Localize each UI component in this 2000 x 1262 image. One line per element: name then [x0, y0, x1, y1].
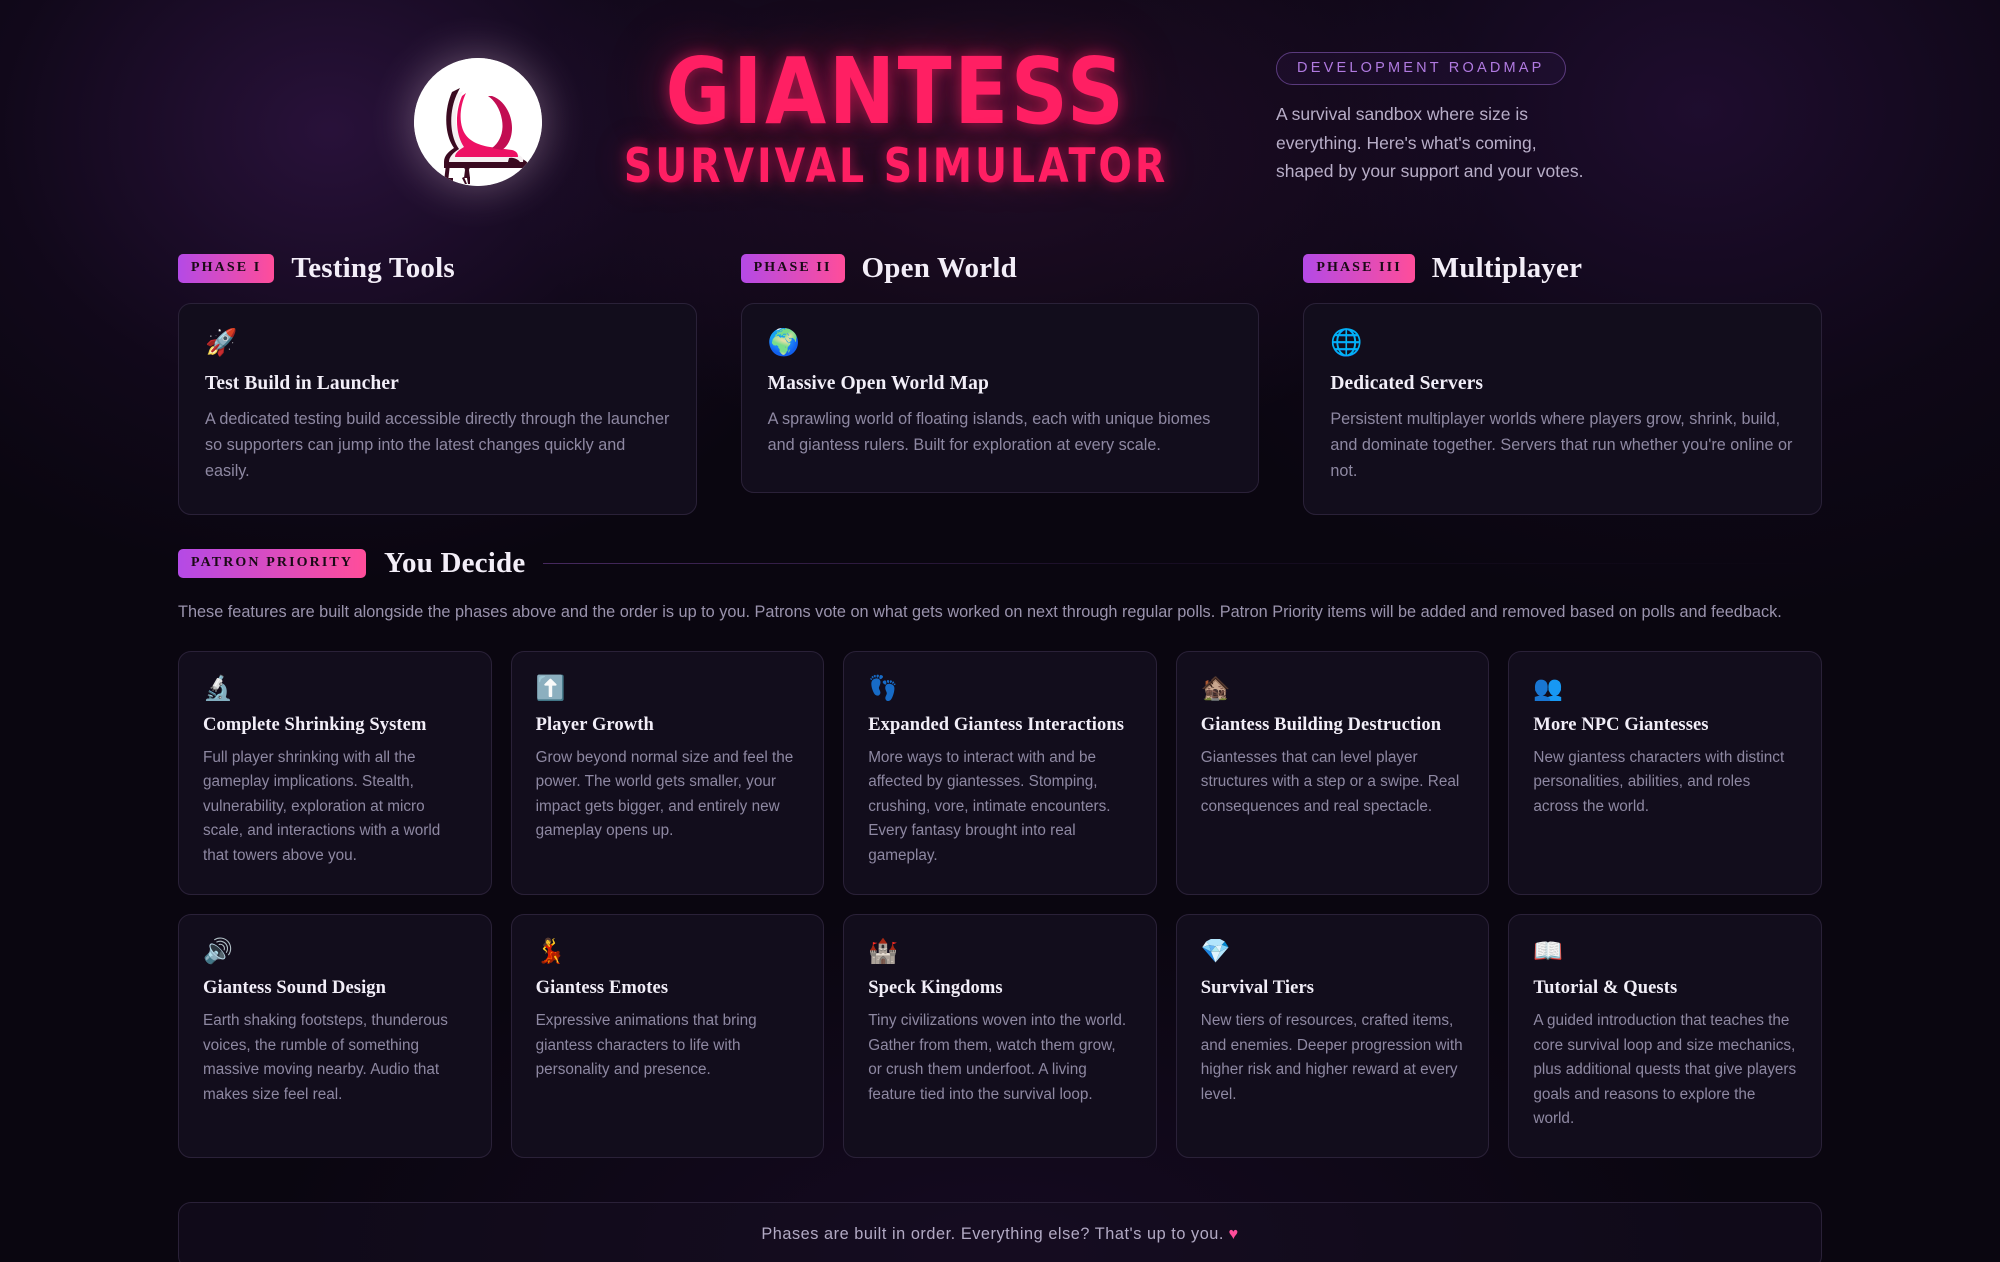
- patron-card-desc: Earth shaking footsteps, thunderous voic…: [203, 1009, 467, 1107]
- patron-card-title: Speck Kingdoms: [868, 978, 1132, 999]
- patron-card-player-growth[interactable]: ⬆️ Player Growth Grow beyond normal size…: [511, 651, 825, 895]
- patron-card-title: Survival Tiers: [1201, 978, 1465, 999]
- patron-card-speck-kingdoms[interactable]: 🏰 Speck Kingdoms Tiny civilizations wove…: [843, 914, 1157, 1158]
- dancer-icon: 💃: [536, 939, 800, 963]
- patron-card-title: Giantess Emotes: [536, 978, 800, 999]
- heart-icon: ♥: [1228, 1225, 1238, 1243]
- title-block: GIANTESS SURVIVAL SIMULATOR: [572, 48, 1220, 192]
- phase-title-3: Multiplayer: [1432, 252, 1582, 285]
- patron-card-building-destruction[interactable]: 🏚️ Giantess Building Destruction Giantes…: [1176, 651, 1490, 895]
- phase-title-1: Testing Tools: [291, 252, 455, 285]
- patron-card-title: Expanded Giantess Interactions: [868, 715, 1132, 736]
- patron-card-title: Complete Shrinking System: [203, 715, 467, 736]
- gem-icon: 💎: [1201, 939, 1465, 963]
- speaker-loud-icon: 🔊: [203, 939, 467, 963]
- busts-silhouette-icon: 👥: [1533, 676, 1797, 700]
- rocket-icon: 🚀: [205, 330, 670, 356]
- patron-divider: [543, 563, 1822, 564]
- patron-header: PATRON PRIORITY You Decide: [178, 547, 1822, 580]
- phase-header-1: PHASE I Testing Tools: [178, 252, 697, 285]
- phase-card-title-2: Massive Open World Map: [768, 373, 1233, 395]
- patron-card-desc: Tiny civilizations woven into the world.…: [868, 1009, 1132, 1107]
- header-meta: DEVELOPMENT ROADMAP A survival sandbox w…: [1276, 52, 1586, 185]
- phase-card-3[interactable]: 🌐 Dedicated Servers Persistent multiplay…: [1303, 303, 1822, 516]
- patron-card-title: Giantess Sound Design: [203, 978, 467, 999]
- patron-card-desc: Full player shrinking with all the gamep…: [203, 746, 467, 868]
- page-title: GIANTESS: [666, 48, 1127, 136]
- patron-title: You Decide: [384, 547, 525, 580]
- logo: [414, 58, 542, 186]
- phase-badge-3: PHASE III: [1303, 254, 1414, 283]
- patron-card-desc: New giantess characters with distinct pe…: [1533, 746, 1797, 819]
- phase-card-desc-3: Persistent multiplayer worlds where play…: [1330, 406, 1795, 485]
- up-arrow-icon: ⬆️: [536, 676, 800, 700]
- patron-priority-section: PATRON PRIORITY You Decide These feature…: [0, 547, 2000, 1158]
- phase-column-1: PHASE I Testing Tools 🚀 Test Build in La…: [178, 252, 697, 516]
- globe-earth-icon: 🌍: [768, 330, 1233, 356]
- derelict-house-icon: 🏚️: [1201, 676, 1465, 700]
- phase-column-3: PHASE III Multiplayer 🌐 Dedicated Server…: [1303, 252, 1822, 516]
- patron-card-title: More NPC Giantesses: [1533, 715, 1797, 736]
- high-heel-logo-icon: [414, 58, 542, 186]
- page-subtitle: SURVIVAL SIMULATOR: [624, 142, 1168, 191]
- patron-card-desc: More ways to interact with and be affect…: [868, 746, 1132, 868]
- patron-card-desc: Grow beyond normal size and feel the pow…: [536, 746, 800, 844]
- phase-column-2: PHASE II Open World 🌍 Massive Open World…: [741, 252, 1260, 516]
- phase-card-1[interactable]: 🚀 Test Build in Launcher A dedicated tes…: [178, 303, 697, 516]
- patron-card-shrinking[interactable]: 🔬 Complete Shrinking System Full player …: [178, 651, 492, 895]
- phase-card-2[interactable]: 🌍 Massive Open World Map A sprawling wor…: [741, 303, 1260, 493]
- open-book-icon: 📖: [1533, 939, 1797, 963]
- patron-card-desc: Giantesses that can level player structu…: [1201, 746, 1465, 819]
- patron-card-title: Tutorial & Quests: [1533, 978, 1797, 999]
- phase-header-2: PHASE II Open World: [741, 252, 1260, 285]
- patron-card-npc-giantesses[interactable]: 👥 More NPC Giantesses New giantess chara…: [1508, 651, 1822, 895]
- phase-title-2: Open World: [862, 252, 1017, 285]
- phase-badge-1: PHASE I: [178, 254, 274, 283]
- phase-header-3: PHASE III Multiplayer: [1303, 252, 1822, 285]
- footprints-icon: 👣: [868, 676, 1132, 700]
- phase-badge-2: PHASE II: [741, 254, 845, 283]
- phase-card-desc-1: A dedicated testing build accessible dir…: [205, 406, 670, 485]
- globe-meridians-icon: 🌐: [1330, 330, 1795, 356]
- patron-card-desc: A guided introduction that teaches the c…: [1533, 1009, 1797, 1131]
- castle-icon: 🏰: [868, 939, 1132, 963]
- roadmap-badge: DEVELOPMENT ROADMAP: [1276, 52, 1565, 85]
- patron-card-interactions[interactable]: 👣 Expanded Giantess Interactions More wa…: [843, 651, 1157, 895]
- phase-card-title-3: Dedicated Servers: [1330, 373, 1795, 395]
- footer-text: Phases are built in order. Everything el…: [761, 1225, 1224, 1243]
- phases-grid: PHASE I Testing Tools 🚀 Test Build in La…: [0, 252, 2000, 516]
- page-footer: Phases are built in order. Everything el…: [178, 1202, 1822, 1262]
- patron-grid-row-1: 🔬 Complete Shrinking System Full player …: [178, 651, 1822, 895]
- header-description: A survival sandbox where size is everyth…: [1276, 100, 1586, 185]
- phase-card-title-1: Test Build in Launcher: [205, 373, 670, 395]
- patron-card-desc: New tiers of resources, crafted items, a…: [1201, 1009, 1465, 1107]
- roadmap-page: GIANTESS SURVIVAL SIMULATOR DEVELOPMENT …: [0, 0, 2000, 1262]
- patron-card-tutorial-quests[interactable]: 📖 Tutorial & Quests A guided introductio…: [1508, 914, 1822, 1158]
- page-header: GIANTESS SURVIVAL SIMULATOR DEVELOPMENT …: [0, 0, 2000, 202]
- phase-card-desc-2: A sprawling world of floating islands, e…: [768, 406, 1233, 458]
- patron-card-desc: Expressive animations that bring giantes…: [536, 1009, 800, 1082]
- patron-card-title: Giantess Building Destruction: [1201, 715, 1465, 736]
- patron-card-sound-design[interactable]: 🔊 Giantess Sound Design Earth shaking fo…: [178, 914, 492, 1158]
- patron-card-title: Player Growth: [536, 715, 800, 736]
- microscope-icon: 🔬: [203, 676, 467, 700]
- patron-grid-row-2: 🔊 Giantess Sound Design Earth shaking fo…: [178, 914, 1822, 1158]
- patron-intro-text: These features are built alongside the p…: [178, 600, 1822, 624]
- patron-card-survival-tiers[interactable]: 💎 Survival Tiers New tiers of resources,…: [1176, 914, 1490, 1158]
- patron-card-emotes[interactable]: 💃 Giantess Emotes Expressive animations …: [511, 914, 825, 1158]
- patron-badge: PATRON PRIORITY: [178, 549, 366, 578]
